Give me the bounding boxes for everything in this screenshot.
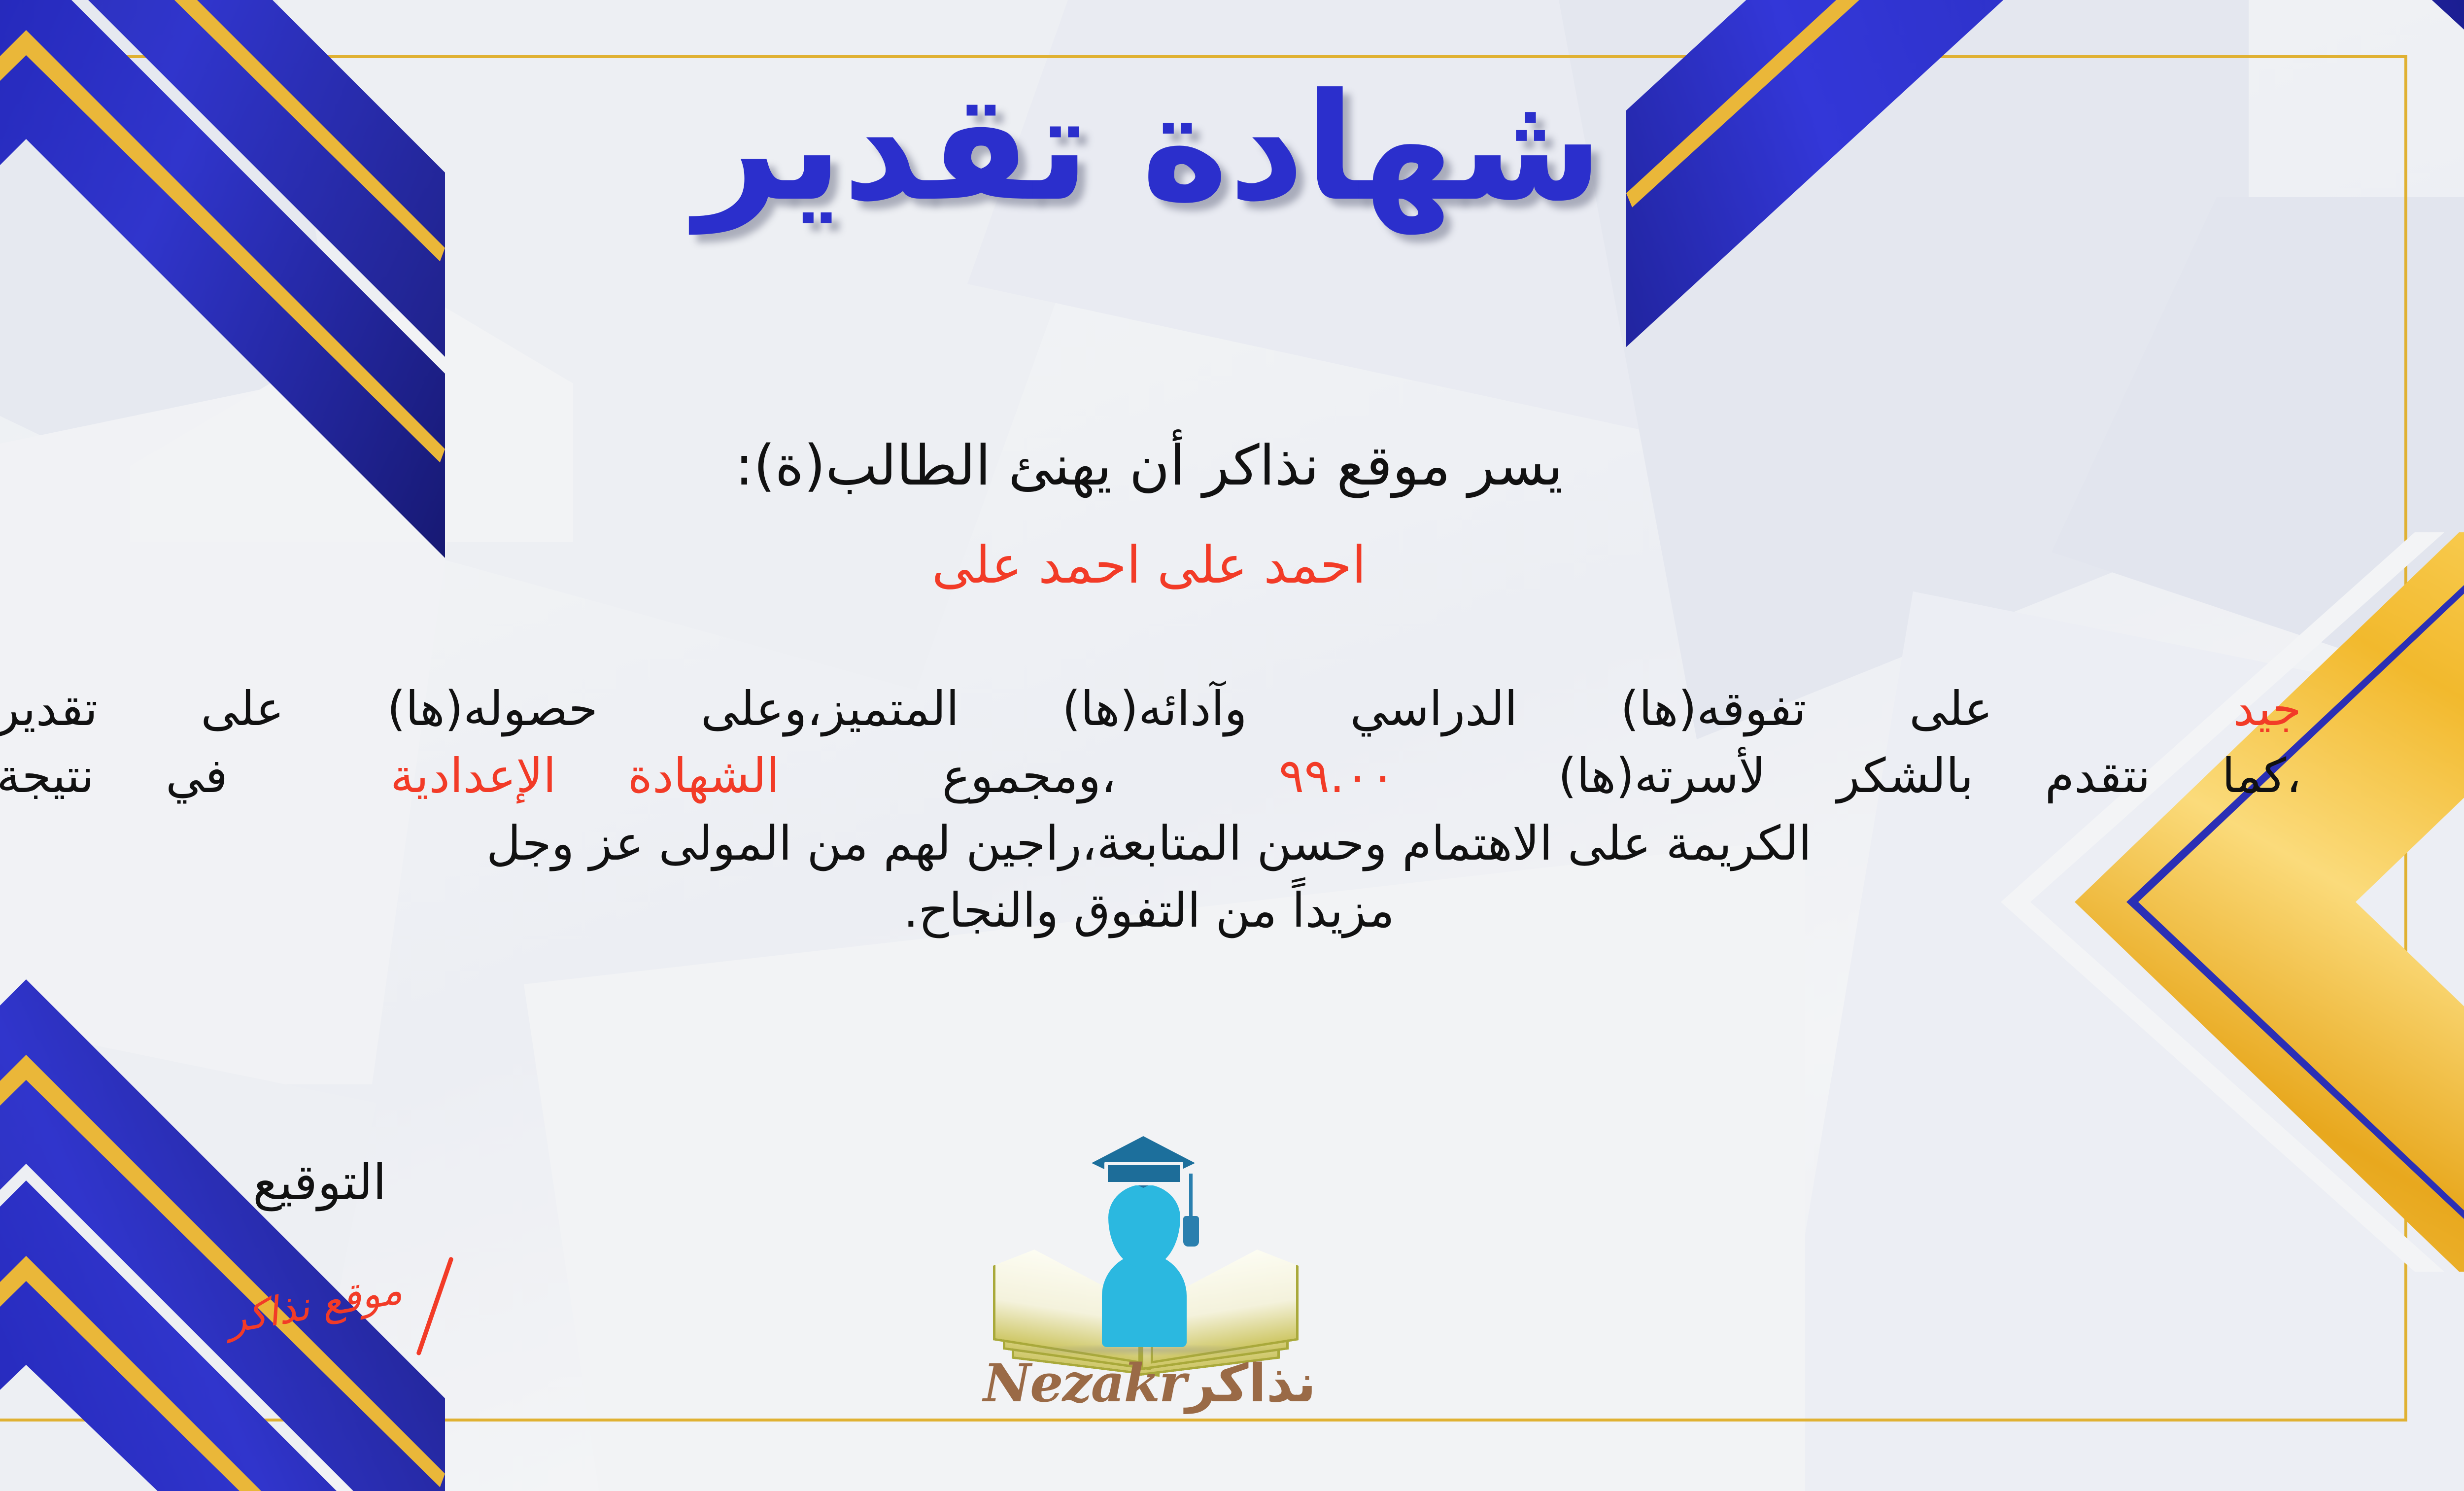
grade-value: جيد xyxy=(2233,681,2301,736)
student-name: احمد على احمد على xyxy=(0,535,2464,595)
certificate-name-value: الشهادة الإعدادية xyxy=(390,748,780,803)
certificate-body: جيد على تفوقه(ها) الدراسي وآدائه(ها) الم… xyxy=(0,675,2301,944)
signature-mark: موقع نذاكر xyxy=(223,1267,406,1343)
signature-stroke-icon xyxy=(416,1256,454,1355)
body-line-2-mid: ،ومجموع xyxy=(942,748,1116,803)
body-line-2: ،كما نتقدم بالشكر لأسرته(ها) ٩٩.٠٠ ،ومجم… xyxy=(0,742,2301,809)
body-line-1: جيد على تفوقه(ها) الدراسي وآدائه(ها) الم… xyxy=(0,675,2301,742)
certificate-page: شهادة تقدير يسر موقع نذاكر أن يهنئ الطال… xyxy=(0,0,2464,1491)
body-line-4: مزيداً من التفوق والنجاح. xyxy=(0,877,2301,944)
body-line-2-prefix: في نتيجة xyxy=(0,748,228,803)
brand-wordmark: نذاكرNezakr xyxy=(977,1352,1322,1414)
body-line-3: الكريمة على الاهتمام وحسن المتابعة،راجين… xyxy=(0,810,2301,877)
signature-label: التوقيع xyxy=(253,1153,386,1211)
tassel-cord-icon xyxy=(1189,1174,1193,1219)
graduate-body-icon xyxy=(1102,1253,1187,1347)
graduation-cap-band-icon xyxy=(1104,1162,1183,1185)
body-line-2-suffix: ،كما نتقدم بالشكر لأسرته(ها) xyxy=(1558,748,2301,803)
brand-logo: نذاكرNezakr xyxy=(977,1131,1322,1407)
certificate-content: شهادة تقدير يسر موقع نذاكر أن يهنئ الطال… xyxy=(0,0,2464,1491)
brand-wordmark-latin: Nezakr xyxy=(983,1352,1186,1414)
certificate-title: شهادة تقدير xyxy=(0,74,2464,222)
total-score-value: ٩٩.٠٠ xyxy=(1279,748,1396,803)
tassel-end-icon xyxy=(1183,1216,1199,1247)
body-line-1-text: على تفوقه(ها) الدراسي وآدائه(ها) المتميز… xyxy=(0,681,1992,736)
greeting-line: يسر موقع نذاكر أن يهنئ الطالب(ة): xyxy=(0,434,2464,498)
brand-wordmark-arabic: نذاكر xyxy=(1186,1353,1316,1414)
